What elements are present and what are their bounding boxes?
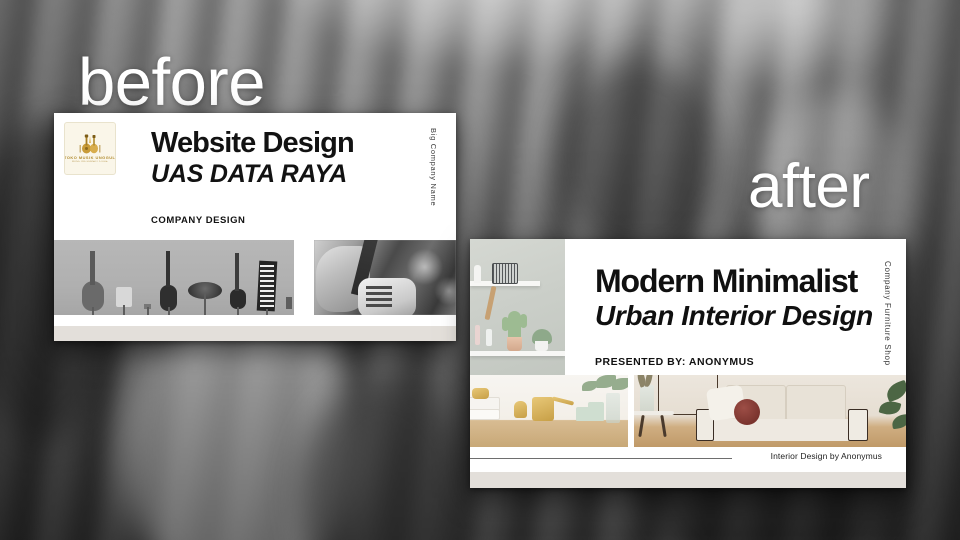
after-photo-row (470, 375, 906, 447)
before-label: before (78, 49, 265, 116)
gold-decor-photo (470, 375, 628, 447)
before-title-line-1: Website Design (151, 128, 354, 159)
after-title-line-1: Modern Minimalist (595, 265, 906, 299)
after-side-label: Company Furniture Shop (883, 261, 892, 366)
before-kicker: COMPANY DESIGN (151, 215, 354, 226)
before-title-line-2: UAS DATA RAYA (151, 160, 354, 189)
footer-credit: Interior Design by Anonymus (771, 451, 882, 461)
before-side-label: Big Company Name (429, 128, 438, 206)
band-instruments-photo (54, 240, 294, 315)
before-photo-row (54, 240, 456, 315)
before-slide-spacer (54, 315, 456, 326)
before-slide-card[interactable]: TOKO MUSIK UNGGUL MUSIC INSTRUMENT STORE… (54, 113, 456, 341)
slide-comparison-canvas: before after TOKO MUSIK UNGGUL MU (0, 0, 960, 540)
after-slide-header: Modern Minimalist Urban Interior Design … (470, 239, 906, 375)
guitar-player-photo (314, 240, 456, 315)
after-title-line-2: Urban Interior Design (595, 300, 906, 331)
company-logo: TOKO MUSIK UNGGUL MUSIC INSTRUMENT STORE (64, 122, 116, 175)
after-title-block: Modern Minimalist Urban Interior Design … (565, 239, 906, 375)
before-title-block: Website Design UAS DATA RAYA COMPANY DES… (116, 122, 354, 240)
beige-sofa-photo (634, 375, 906, 447)
shelf-plants-photo (470, 239, 565, 375)
logo-tagline-text: MUSIC INSTRUMENT STORE (72, 161, 108, 164)
after-slide-card[interactable]: Modern Minimalist Urban Interior Design … (470, 239, 906, 488)
guitar-logo-icon (77, 133, 103, 155)
after-bottom-strip (470, 472, 906, 488)
after-slide-footer: Interior Design by Anonymus (470, 447, 906, 472)
after-label: after (748, 156, 870, 218)
after-kicker: PRESENTED BY: ANONYMUS (595, 356, 906, 368)
before-bottom-strip (54, 326, 456, 341)
before-slide-header: TOKO MUSIK UNGGUL MUSIC INSTRUMENT STORE… (54, 113, 456, 240)
footer-divider (470, 458, 732, 459)
